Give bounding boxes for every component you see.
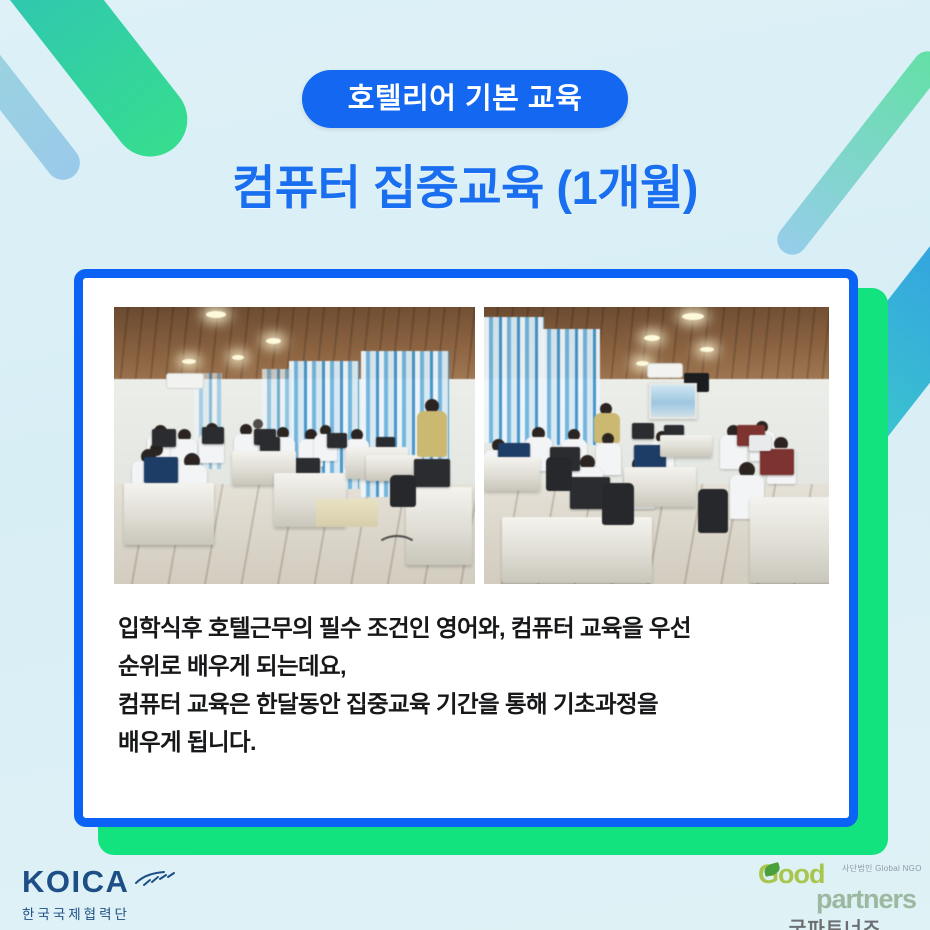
section-badge-label: 호텔리어 기본 교육 [348, 85, 583, 114]
section-badge: 호텔리어 기본 교육 [302, 70, 628, 128]
good-partners-tagline: 사단법인 Global NGO [842, 865, 922, 873]
promo-card-canvas: 호텔리어 기본 교육 컴퓨터 집중교육 (1개월) [0, 0, 930, 930]
photo-softening-layer [484, 307, 829, 584]
koica-swoosh-icon [134, 869, 182, 889]
koica-logo: KOICA 한국국제협력단 [22, 866, 242, 923]
good-partners-partners-text: partners [750, 886, 920, 913]
decor-bar-top-left-thick [0, 0, 202, 171]
photo-computer-lab-front [114, 307, 475, 584]
card-body-text: 입학식후 호텔근무의 필수 조건인 영어와, 컴퓨터 교육을 우선 순위로 배우… [114, 609, 831, 761]
decor-bar-top-right-thin [771, 45, 930, 260]
photo-softening-layer [114, 307, 475, 584]
photo-computer-lab-projector [484, 307, 829, 584]
koica-subtitle: 한국국제협력단 [22, 903, 242, 923]
koica-wordmark: KOICA [22, 866, 242, 897]
content-card: 입학식후 호텔근무의 필수 조건인 영어와, 컴퓨터 교육을 우선 순위로 배우… [74, 269, 858, 827]
decor-bar-top-left-thin [0, 0, 87, 187]
page-title: 컴퓨터 집중교육 (1개월) [0, 160, 930, 216]
good-partners-korean-text: 굿파트너즈 [750, 914, 920, 930]
good-partners-good-text: Good 사단법인 Global NGO [750, 862, 920, 888]
good-partners-logo: Good 사단법인 Global NGO partners 굿파트너즈 [750, 862, 920, 930]
photo-row [114, 307, 831, 584]
